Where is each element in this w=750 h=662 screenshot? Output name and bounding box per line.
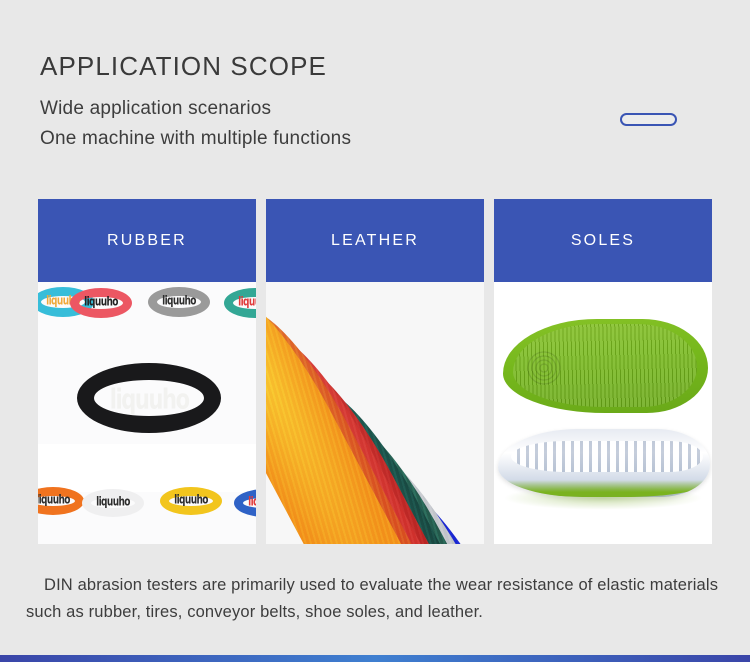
page-header: APPLICATION SCOPE Wide application scena…	[40, 50, 710, 154]
wristband-logo: liquuho	[38, 494, 70, 508]
subtitle-line-2: One machine with multiple functions	[40, 124, 710, 154]
wristband-bottom-2: liquuho	[160, 487, 222, 515]
card-image-soles	[494, 282, 712, 544]
wristband-top-1: liquuho	[70, 288, 132, 318]
application-card-leather[interactable]: LEATHER	[266, 199, 484, 544]
wristband-bottom-1: liquuho	[82, 489, 144, 517]
leather-sheets-illustration	[266, 282, 484, 544]
photo-white-strip	[38, 444, 256, 491]
wristband-top-3: liquuho	[224, 288, 256, 318]
silicone-wristbands-illustration: liquuholiquuholiquuholiquuho liquuho liq…	[38, 282, 256, 544]
page-title: APPLICATION SCOPE	[40, 50, 710, 82]
card-title-soles: SOLES	[494, 199, 712, 282]
wristband-logo: liquuho	[248, 496, 256, 510]
wristband-logo-main: liquuho	[110, 384, 189, 415]
bottom-accent-bar	[0, 655, 750, 662]
outsole-shape	[503, 319, 708, 413]
sole-shadow	[503, 486, 704, 510]
subtitle-line-1: Wide application scenarios	[40, 94, 710, 124]
wristband-main: liquuho	[77, 363, 221, 433]
page-subtitle: Wide application scenarios One machine w…	[40, 94, 710, 154]
wristband-logo: liquuho	[96, 496, 130, 510]
wristband-logo: liquuho	[238, 296, 256, 310]
wristband-top-2: liquuho	[148, 287, 210, 317]
card-image-leather	[266, 282, 484, 544]
footnote-text: DIN abrasion testers are primarily used …	[26, 572, 726, 626]
card-title-rubber: RUBBER	[38, 199, 256, 282]
card-image-rubber: liquuholiquuholiquuholiquuho liquuho liq…	[38, 282, 256, 544]
shoe-soles-illustration	[494, 282, 712, 544]
application-card-soles[interactable]: SOLES	[494, 199, 712, 544]
wristband-logo: liquuho	[162, 295, 196, 309]
application-card-list: RUBBER liquuholiquuholiquuholiquuho liqu…	[38, 199, 712, 544]
wristband-logo: liquuho	[84, 296, 118, 310]
card-title-leather: LEATHER	[266, 199, 484, 282]
header-accent-pill	[620, 113, 677, 126]
wristband-logo: liquuho	[174, 494, 208, 508]
application-card-rubber[interactable]: RUBBER liquuholiquuholiquuholiquuho liqu…	[38, 199, 256, 544]
wristband-bottom-3: liquuho	[234, 489, 256, 517]
